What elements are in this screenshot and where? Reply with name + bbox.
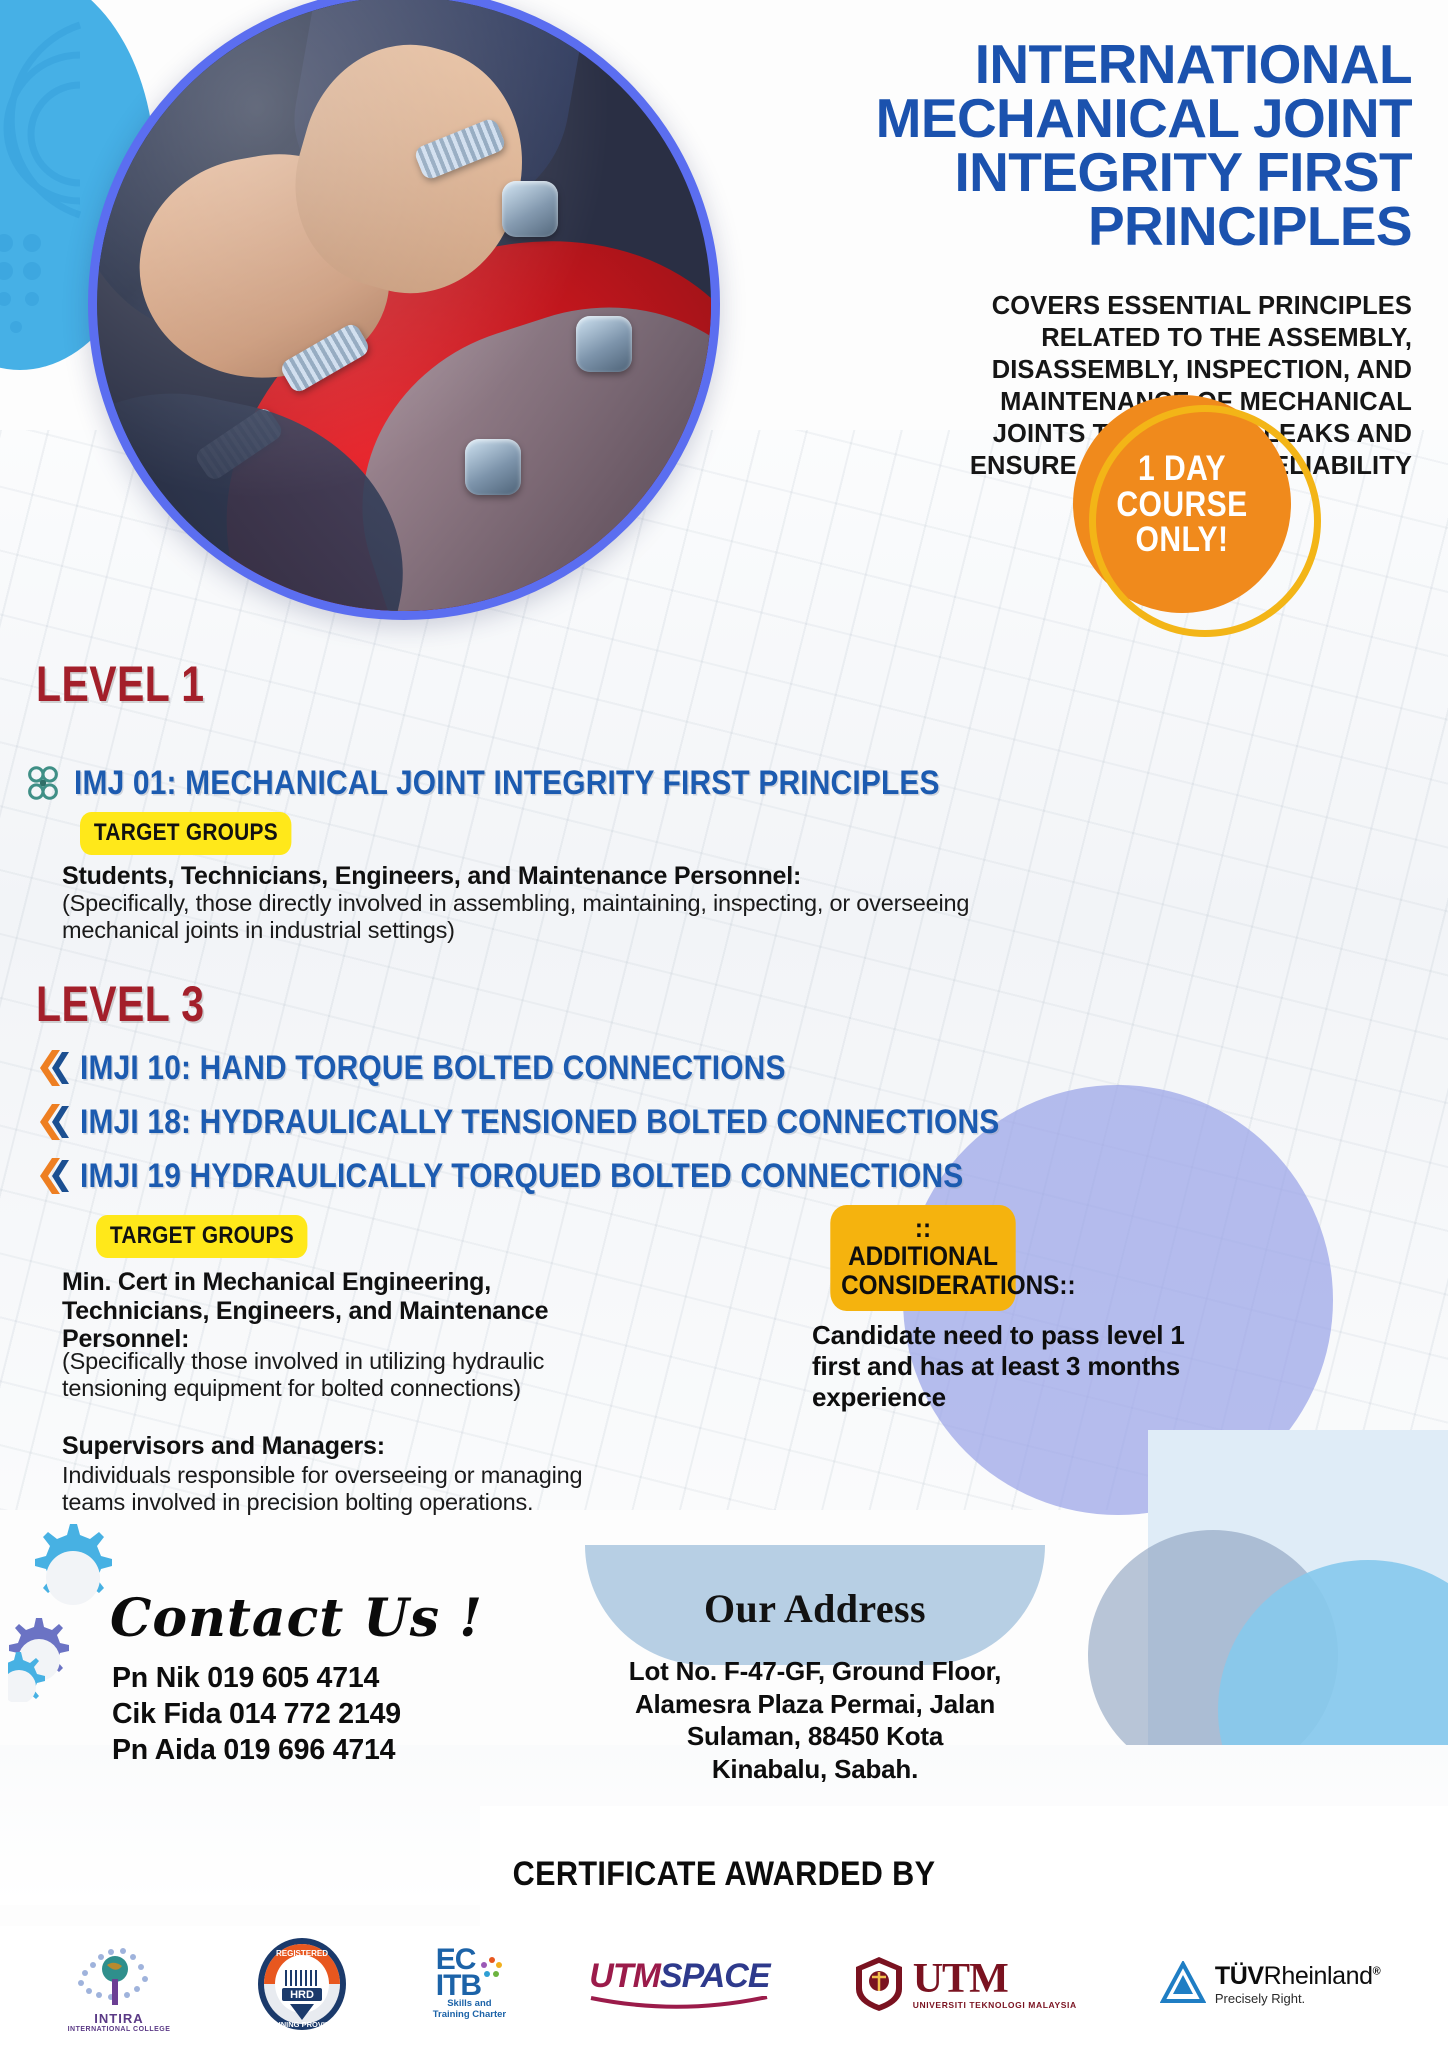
certificate-awarded-by-title: CERTIFICATE AWARDED BY	[72, 1855, 1375, 1894]
target-groups-badge-level1: TARGET GROUPS	[80, 812, 292, 855]
course-row-imj01[interactable]: IMJ 01: MECHANICAL JOINT INTEGRITY FIRST…	[22, 762, 1058, 804]
logo-tuv-rheinland: TÜVRheinland® Precisely Right.	[1160, 1961, 1381, 2007]
ecitb-sub-line-2: Training Charter	[433, 2010, 506, 2021]
description-line-1: COVERS ESSENTIAL PRINCIPLES	[872, 290, 1412, 322]
utm-wordmark: UTM	[913, 1958, 1077, 2000]
gear-icon-large	[35, 1524, 112, 1605]
title-line-3: INTEGRITY FIRST	[872, 146, 1412, 200]
chevron-double-icon	[36, 1048, 70, 1088]
addcons-body-line-3: experience	[812, 1382, 1232, 1413]
target-groups-badge-level3: TARGET GROUPS	[96, 1215, 308, 1258]
additional-considerations-badge: :: ADDITIONAL CONSIDERATIONS::	[830, 1205, 1015, 1311]
intra-logo-title: INTIRA	[94, 2011, 143, 2026]
tuv-light-text: Rheinland	[1264, 1962, 1373, 1990]
logo-hrdcorp: HRD REGISTERED TRAINING PROVIDER	[254, 1936, 350, 2032]
level3-bold-line-2: Technicians, Engineers, and Maintenance	[62, 1297, 722, 1326]
intra-globe-icon	[71, 1935, 167, 2011]
svg-text:HRD: HRD	[290, 1989, 314, 2001]
title-line-4: PRINCIPLES	[872, 200, 1412, 254]
hrd-corp-seal-icon: HRD REGISTERED TRAINING PROVIDER	[254, 1936, 350, 2032]
utmspace-wordmark: UTMSPACE	[589, 1957, 769, 1996]
addcons-body-line-1: Candidate need to pass level 1	[812, 1320, 1232, 1351]
address-line-1: Lot No. F-47-GF, Ground Floor,	[585, 1655, 1045, 1688]
logo-utmspace: UTMSPACE	[589, 1957, 769, 2012]
contact-line-2[interactable]: Cik Fida 014 772 2149	[112, 1696, 401, 1732]
svg-text:REGISTERED: REGISTERED	[276, 1949, 328, 1958]
background-steel-blob	[1088, 1530, 1338, 1780]
level3-note-line-2: tensioning equipment for bolted connecti…	[62, 1375, 762, 1402]
utmspace-space-text: SPACE	[660, 1957, 770, 1995]
svg-text:TRAINING PROVIDER: TRAINING PROVIDER	[263, 2020, 341, 2029]
course-title-imji18: IMJI 18: HYDRAULICALLY TENSIONED BOLTED …	[80, 1103, 999, 1142]
logo-utm: UTM UNIVERSITI TEKNOLOGI MALAYSIA	[853, 1955, 1077, 2013]
supervisors-note: Individuals responsible for overseeing o…	[62, 1462, 802, 1516]
ecitb-asterisk-icon	[481, 1957, 503, 1979]
address-line-3: Sulaman, 88450 Kota	[585, 1720, 1045, 1753]
logo-intra: INTIRA INTERNATIONAL COLLEGE	[68, 1935, 171, 2033]
utm-subtitle: UNIVERSITI TEKNOLOGI MALAYSIA	[913, 2000, 1077, 2010]
utm-crest-icon	[853, 1955, 905, 2013]
supervisors-note-line-1: Individuals responsible for overseeing o…	[62, 1462, 802, 1489]
tuv-triangle-icon	[1160, 1961, 1206, 2007]
addcons-badge-line-1: :: ADDITIONAL	[841, 1214, 1005, 1271]
level-1-heading: LEVEL 1	[36, 655, 204, 713]
address-body: Lot No. F-47-GF, Ground Floor, Alamesra …	[585, 1655, 1045, 1785]
background-cyan-blob-bottom	[1218, 1560, 1448, 1860]
chevron-double-icon	[36, 1102, 70, 1142]
photo-content	[97, 0, 711, 611]
description-line-3: DISASSEMBLY, INSPECTION, AND	[872, 354, 1412, 386]
addcons-badge-line-2: CONSIDERATIONS::	[841, 1271, 1005, 1299]
description-line-2: RELATED TO THE ASSEMBLY,	[872, 322, 1412, 354]
background-blue-strip	[1148, 1430, 1448, 1850]
course-row-imji19[interactable]: IMJI 19 HYDRAULICALLY TORQUED BOLTED CON…	[36, 1156, 1084, 1196]
level1-note-line-1: (Specifically, those directly involved i…	[62, 890, 1122, 917]
utmspace-utm-text: UTM	[589, 1957, 660, 1995]
tuv-bold-text: TÜV	[1215, 1962, 1264, 1990]
contact-phone-list: Pn Nik 019 605 4714 Cik Fida 014 772 214…	[112, 1660, 401, 1769]
contact-line-1[interactable]: Pn Nik 019 605 4714	[112, 1660, 401, 1696]
addcons-body-line-2: first and has at least 3 months	[812, 1351, 1232, 1382]
level3-bold-line-1: Min. Cert in Mechanical Engineering,	[62, 1268, 722, 1297]
title-line-1: INTERNATIONAL	[872, 38, 1412, 92]
level3-target-bold: Min. Cert in Mechanical Engineering, Tec…	[62, 1268, 722, 1354]
supervisors-note-line-2: teams involved in precision bolting oper…	[62, 1489, 802, 1516]
tuv-registered-mark: ®	[1373, 1966, 1381, 1978]
address-line-4: Kinabalu, Sabah.	[585, 1753, 1045, 1786]
contact-us-heading: Contact Us !	[110, 1588, 483, 1649]
hero-photo-mechanical-joint	[88, 0, 720, 620]
level-3-heading: LEVEL 3	[36, 975, 204, 1033]
supervisors-bold: Supervisors and Managers:	[62, 1432, 385, 1461]
title-line-2: MECHANICAL JOINT	[872, 92, 1412, 146]
level1-note-line-2: mechanical joints in industrial settings…	[62, 917, 1122, 944]
address-line-2: Alamesra Plaza Permai, Jalan	[585, 1688, 1045, 1721]
level3-note-line-1: (Specifically those involved in utilizin…	[62, 1348, 762, 1375]
intra-logo-subtitle: INTERNATIONAL COLLEGE	[68, 2026, 171, 2033]
course-title-imji19: IMJI 19 HYDRAULICALLY TORQUED BOLTED CON…	[80, 1157, 963, 1196]
contact-line-3[interactable]: Pn Aida 019 696 4714	[112, 1732, 401, 1768]
course-row-imji18[interactable]: IMJI 18: HYDRAULICALLY TENSIONED BOLTED …	[36, 1102, 1125, 1142]
chevron-double-icon	[36, 1156, 70, 1196]
badge-line-1: 1 DAY COURSE	[1090, 451, 1274, 522]
tuv-tagline: Precisely Right.	[1215, 1991, 1381, 2006]
one-day-course-badge: 1 DAY COURSE ONLY!	[1089, 405, 1321, 637]
additional-considerations-body: Candidate need to pass level 1 first and…	[812, 1320, 1232, 1414]
course-title-imj01: IMJ 01: MECHANICAL JOINT INTEGRITY FIRST…	[74, 764, 940, 803]
partner-logo-strip: INTIRA INTERNATIONAL COLLEGE HRD REGISTE…	[0, 1926, 1448, 2042]
level1-target-note: (Specifically, those directly involved i…	[62, 890, 1122, 944]
level3-target-note: (Specifically those involved in utilizin…	[62, 1348, 762, 1402]
course-row-imji10[interactable]: IMJI 10: HAND TORQUE BOLTED CONNECTIONS	[36, 1048, 882, 1088]
course-poster: INTERNATIONAL MECHANICAL JOINT INTEGRITY…	[0, 0, 1448, 2048]
ecitb-itb-text: ITB	[436, 1973, 481, 1999]
badge-text: 1 DAY COURSE ONLY!	[1090, 451, 1274, 558]
tuv-wordmark: TÜVRheinland®	[1215, 1962, 1381, 1991]
badge-line-2: ONLY!	[1090, 522, 1274, 558]
course-title-imji10: IMJI 10: HAND TORQUE BOLTED CONNECTIONS	[80, 1049, 786, 1088]
flower-icon	[22, 762, 64, 804]
utmspace-swoosh-icon	[589, 1996, 769, 2012]
address-heading: Our Address	[585, 1585, 1045, 1632]
page-title: INTERNATIONAL MECHANICAL JOINT INTEGRITY…	[872, 38, 1412, 254]
logo-ecitb: EC ITB Skills and Training Charter	[433, 1947, 506, 2022]
level1-target-bold: Students, Technicians, Engineers, and Ma…	[62, 862, 801, 891]
